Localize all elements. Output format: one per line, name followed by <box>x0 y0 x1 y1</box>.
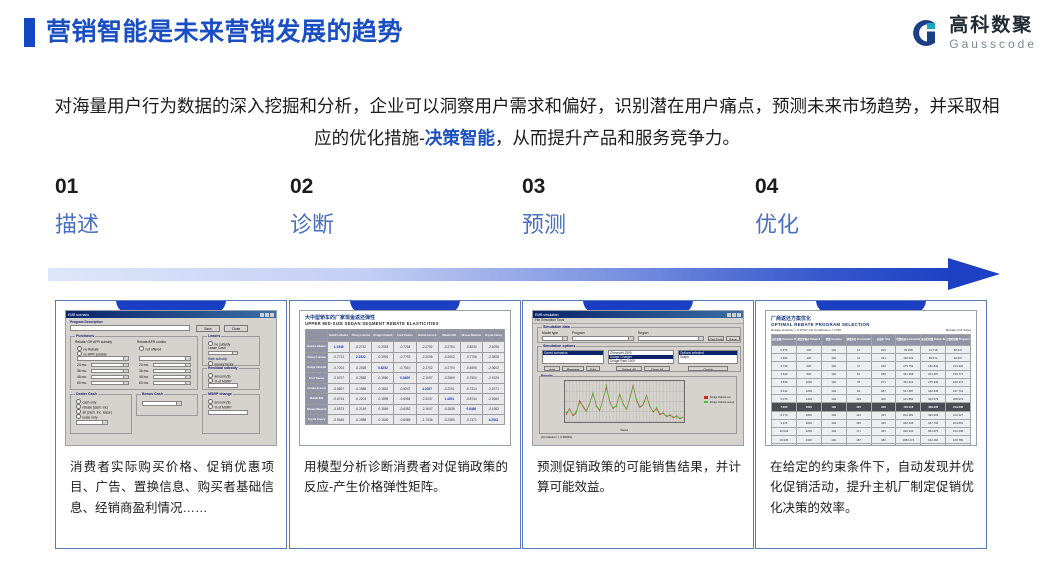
rebate-cell: 722.116 <box>896 403 921 411</box>
matrix-row-header: Chevy Lumina <box>306 352 328 362</box>
rebate-cell: 204.861 <box>946 419 971 427</box>
title-text: 营销智能是未来营销发展的趋势 <box>46 20 403 45</box>
msrp-change-input[interactable] <box>208 410 248 415</box>
card-optimize[interactable]: 厂商返还方案优化 OPTIMAL REBATE PROGRAM SELECTIO… <box>755 300 987 549</box>
rebate-cell: 318 <box>871 403 896 411</box>
rebate-cell: 190 <box>821 370 846 378</box>
rebate-cell: 1200 <box>796 386 821 394</box>
rebate-cell: 10.026 <box>772 427 797 435</box>
rebate-cell: 1600 <box>796 403 821 411</box>
correlation-text: (Correlation = 0.96066) <box>541 435 572 439</box>
table-row: 7.2951600190125318722.116459.235213.348 <box>772 403 971 411</box>
label-region: Region <box>638 331 648 335</box>
bonus-cash-input[interactable] <box>142 401 182 406</box>
rebate-cell: 7.295 <box>772 403 797 411</box>
paragraph-highlight: 决策智能 <box>425 128 495 148</box>
rebate-cell: 992.910 <box>896 427 921 435</box>
matrix-cell: 1.4291 <box>438 394 460 404</box>
rebate-cell: 1000 <box>796 378 821 386</box>
rebate-cell: 124.902 <box>946 362 971 370</box>
rebate-cell: 95.268 <box>896 346 921 354</box>
rebate-cell: 78 <box>846 378 871 386</box>
rebate-cell: 10.935 <box>772 436 797 444</box>
dealer-cash-select[interactable] <box>76 420 108 425</box>
rebate-cell: 9.115 <box>772 419 797 427</box>
rebate-cell: 68.447 <box>946 346 971 354</box>
matrix-row-header: Dodge Intrepid <box>306 363 328 373</box>
list-item[interactable]: Graph <box>679 355 737 359</box>
rebate-cell: 190 <box>821 444 846 446</box>
matrix-cell: -0.2291 <box>438 383 460 393</box>
radio-lease-only[interactable]: lease only <box>76 414 97 420</box>
table-row: Nissan Maxima-0.6573-0.2149-0.1869-0.635… <box>306 404 505 414</box>
matrix-col-header: Buick LeSabre <box>328 330 350 342</box>
rebate-cell: 190 <box>821 436 846 444</box>
rebate-cell: 333 <box>871 411 896 419</box>
rebate-cell: 258 <box>871 370 896 378</box>
term-label-36b: 36 mo. <box>139 369 149 373</box>
matrix-cell: -0.6573 <box>328 404 350 414</box>
rebate-cell: 47 <box>846 362 871 370</box>
term-label-24b: 24 mo. <box>139 363 149 367</box>
models-list[interactable]: Chevrolet 1500 Dodge Charger Dodge Ram 1… <box>608 350 674 364</box>
rebate-cell: 212.427 <box>946 411 971 419</box>
table-row: 5.444120019094287541.587340.846197.741 <box>772 386 971 394</box>
step-label: 诊断 <box>290 214 520 236</box>
rebate-cell: 380 <box>871 436 896 444</box>
group-residual-subsidy: Residual subsidy amount ($) % of MSRP <box>202 368 260 390</box>
matrix-table: Buick LeSabreChevy LuminaDodge IntrepidF… <box>305 329 505 425</box>
matrix-col-header: Toyota Camry <box>482 330 504 342</box>
term-label-48: 48 mo. <box>77 375 87 379</box>
rebate-cell: 156.771 <box>946 370 971 378</box>
matrix-cell: -0.7510 <box>394 363 416 373</box>
term-rate-60[interactable] <box>153 381 191 386</box>
matrix-row-header: Honda Accord <box>306 383 328 393</box>
rebate-cell: 499.906 <box>921 411 946 419</box>
rebate-cell: 287 <box>871 386 896 394</box>
matrix-cell: -0.1991 <box>372 352 394 362</box>
paragraph-part-2: ，从而提升产品和服务竞争力。 <box>495 128 740 148</box>
rebate-cell: 902.645 <box>896 419 921 427</box>
rebate-cell: 459.235 <box>921 403 946 411</box>
saved-scenarios-list[interactable]: Saved scenarios <box>542 350 604 364</box>
rebate-cell: 340.846 <box>921 386 946 394</box>
table-row: 0.9762001901420995.26841.71868.447 <box>772 346 971 354</box>
group-label-msrp: MSRP change <box>207 392 233 396</box>
rebate-cell: 31 <box>846 354 871 362</box>
group-bonus-cash: Bonus Cash <box>136 394 198 416</box>
residual-value-input[interactable] <box>208 383 238 388</box>
rebate-title-en: OPTIMAL REBATE PROGRAM SELECTION <box>771 322 971 327</box>
rebate-cell: 8.179 <box>772 411 797 419</box>
table-row: 8.1791800190140333812.381499.906212.427 <box>772 411 971 419</box>
matrix-row-header: Ford Taurus <box>306 373 328 383</box>
group-leases: Leases no subsidy Lease Cash Rate subsid… <box>202 336 260 366</box>
rebate-cell: 190 <box>821 386 846 394</box>
matrix-cell: -0.6589 <box>394 414 416 424</box>
matrix-cell: -2.0808 <box>482 352 504 362</box>
title-accent-bar <box>24 18 35 47</box>
clear-all-button[interactable]: Clear All <box>644 366 670 371</box>
group-dealer-cash: Dealer Cash cash only rebate (cash. Inc)… <box>70 394 132 434</box>
table-row: 1.92640019031224182.32989.67292.607 <box>772 354 971 362</box>
matrix-cell: -2.1660 <box>482 394 504 404</box>
rebate-cell: 171 <box>846 427 871 435</box>
rebate-cell: 1800 <box>796 411 821 419</box>
rebate-cell: 203 <box>846 444 871 446</box>
matrix-cell: -0.2669 <box>438 373 460 383</box>
rebate-cell: 190 <box>821 346 846 354</box>
group-label-bonus-cash: Bonus Cash <box>141 392 164 396</box>
matrix-cell: -0.6954 <box>394 394 416 404</box>
matrix-cell: -0.2742 <box>350 342 372 352</box>
brand-logo: 高科数聚 Gausscode <box>908 16 1037 50</box>
term-rate-36[interactable] <box>153 369 191 374</box>
matrix-col-header: Nissan Maxima <box>460 330 482 342</box>
select-all-button[interactable]: Select All <box>616 366 642 371</box>
table-header-row: Buick LeSabreChevy LuminaDodge IntrepidF… <box>306 330 505 342</box>
rebate-cell: 169.780 <box>946 436 971 444</box>
simulation-chart: Dodge Dakota est Dodge Dakota actual Wee… <box>539 376 737 434</box>
step-item-1: 01 描述 <box>55 176 285 236</box>
rebate-cell: 271 <box>871 378 896 386</box>
purchase-select-2[interactable] <box>139 356 191 361</box>
term-label-48b: 48 mo. <box>139 375 149 379</box>
table-row: 2.73960019047240275.754140.842124.902 <box>772 362 971 370</box>
rebate-cell: 4.539 <box>772 378 797 386</box>
matrix-row-header: Buick LeSabre <box>306 342 328 352</box>
progress-arrow-head <box>948 258 1000 290</box>
rebate-cell: 204.287 <box>921 370 946 378</box>
label-model-type: Model type <box>542 331 558 335</box>
rebate-title-cn: 厂商返还方案优化 <box>771 315 971 322</box>
rebate-cell: 224 <box>871 354 896 362</box>
rebate-col-header: 建议零售价 Rebate $ <box>796 335 821 346</box>
rebate-col-header: 返还金额 Customer Price <box>772 335 797 346</box>
matrix-cell: -0.1869 <box>372 404 394 414</box>
rebate-cell: 190 <box>821 378 846 386</box>
matrix-cell: -0.6352 <box>394 404 416 414</box>
matrix-cell: -2.1697 <box>416 373 438 383</box>
rebate-col-header: 方案利润额 Program Profits <box>946 335 971 346</box>
rebate-cell: 1028.703 <box>921 444 946 446</box>
matrix-row-header: Toyota Camry <box>306 414 328 424</box>
term-label-24: 24 mo. <box>77 363 87 367</box>
rebate-cell: 276.949 <box>921 378 946 386</box>
term-label-36: 36 mo. <box>77 369 87 373</box>
term-value-48[interactable] <box>91 375 129 380</box>
rebate-cell: 190 <box>821 419 846 427</box>
matrix-cell: -2.2752 <box>416 342 438 352</box>
table-row: Buick LeSabre1.1548-0.2742-0.2018-0.7254… <box>306 342 505 352</box>
card-predict[interactable]: EMB simulation File Simulation Tools Sim… <box>522 300 754 549</box>
matrix-cell: -0.8490 <box>460 363 482 373</box>
screenshot-simulation-window: EMB simulation File Simulation Tools Sim… <box>532 310 744 446</box>
matrix-cell: -0.1895 <box>372 394 394 404</box>
options-selected-list[interactable]: Options selected Graph <box>678 350 738 364</box>
rebate-cell: 190 <box>821 411 846 419</box>
matrix-cell: -2.1096 <box>482 342 504 352</box>
term-value-60[interactable] <box>91 381 129 386</box>
rebate-cell: 208.973 <box>946 395 971 403</box>
step-headings: 01 描述 02 诊断 03 预测 04 优化 <box>0 176 1051 251</box>
rebate-cell: 140.842 <box>921 362 946 370</box>
rebate-cell: 140.728 <box>946 444 971 446</box>
table-header-row: 返还金额 Customer Price建议零售价 Rebate $销量 Ince… <box>772 335 971 346</box>
rebate-cell: 200 <box>796 346 821 354</box>
matrix-cell: -2.0602 <box>482 363 504 373</box>
program-select[interactable] <box>572 336 634 341</box>
rebate-cell: 863.875 <box>921 427 946 435</box>
save-button[interactable]: Save <box>196 325 220 332</box>
rebate-cell: 190 <box>821 403 846 411</box>
rebate-cell: 395 <box>871 444 896 446</box>
rebate-cell: 89.672 <box>921 354 946 362</box>
matrix-cell: -0.2028 <box>350 363 372 373</box>
progress-arrow-body <box>48 268 958 281</box>
intro-paragraph: 对海量用户行为数据的深入挖掘和分析，企业可以洞察用户需求和偏好，识别潜在用户痛点… <box>48 90 1006 155</box>
step-label: 预测 <box>522 214 752 236</box>
rebate-subtitle-left: Rebate elasticity = 0.8752 Unit Contribu… <box>771 328 841 332</box>
table-row: Mazda 626-0.6744-0.2203-0.1895-0.6954-2.… <box>306 394 505 404</box>
matrix-cell: -0.1640 <box>372 414 394 424</box>
rebate-cell: 1173.439 <box>896 444 921 446</box>
rebate-cell: 364 <box>871 427 896 435</box>
rebate-cell: 2400 <box>796 436 821 444</box>
matrix-cell: -2.2006 <box>416 352 438 362</box>
window-buttons[interactable] <box>727 313 741 317</box>
chart-svg <box>565 381 685 422</box>
matrix-cell: -0.2588 <box>350 373 372 383</box>
rebate-cell: 190 <box>821 362 846 370</box>
close-button[interactable]: Close <box>224 325 248 332</box>
group-label-sim-data: Simulation data <box>542 325 571 329</box>
matrix-cell: -0.7713 <box>328 352 350 362</box>
table-row: 3.64380019062258361.058204.287156.771 <box>772 370 971 378</box>
list-item[interactable]: Saved scenarios <box>543 351 603 355</box>
matrix-cell: 4.2541 <box>482 414 504 424</box>
rebate-cell: 302 <box>871 395 896 403</box>
term-rate-48[interactable] <box>153 375 191 380</box>
rebate-cell: 240 <box>871 362 896 370</box>
rebate-cell: 3.643 <box>772 370 797 378</box>
card-caption: 预测促销政策的可能销售结果，并计算可能效益。 <box>537 457 741 498</box>
matrix-cell: -0.2838 <box>438 404 460 414</box>
region-select[interactable] <box>638 336 704 341</box>
chart-plot-area <box>564 380 686 423</box>
table-row: Honda Accord-0.5807-0.1986-0.1642-0.5247… <box>306 383 505 393</box>
matrix-cell: -0.7371 <box>460 414 482 424</box>
table-row: 11.84526001902033951173.4391028.703140.7… <box>772 444 971 446</box>
matrix-cell: 4.2257 <box>416 383 438 393</box>
term-value-36[interactable] <box>91 369 129 374</box>
matrix-cell: -0.1988 <box>350 414 372 424</box>
table-row: Dodge Intrepid-0.7204-0.20280.8252-0.751… <box>306 363 505 373</box>
matrix-cell: -0.7204 <box>328 363 350 373</box>
step-number: 03 <box>522 176 752 197</box>
rebate-cell: 140 <box>846 411 871 419</box>
rebate-cell: 156 <box>846 419 871 427</box>
rebate-cell: 191.038 <box>946 427 971 435</box>
rebate-col-header: 增量收益 Incremental Dealer Revenue <box>896 335 921 346</box>
window-buttons[interactable] <box>260 313 274 317</box>
matrix-row-header: Nissan Maxima <box>306 404 328 414</box>
step-number: 02 <box>290 176 520 197</box>
term-rate-24[interactable] <box>153 363 191 368</box>
rebate-cell: 451.323 <box>896 378 921 386</box>
matrix-col-header: Dodge Intrepid <box>372 330 394 342</box>
card-caption: 在给定的约束条件下，自动发现并优化促销活动，提升主机厂制定促销优化决策的效率。 <box>770 457 974 518</box>
matrix-col-header: Ford Taurus <box>394 330 416 342</box>
matrix-cell: -0.7756 <box>460 352 482 362</box>
table-row: Chevy Lumina-0.77132.2522-0.1991-0.7793-… <box>306 352 505 362</box>
rebate-cell: 94 <box>846 386 871 394</box>
matrix-col-header: Chevy Lumina <box>350 330 372 342</box>
rebate-cell: 812.381 <box>896 411 921 419</box>
matrix-cell: 2.2522 <box>350 352 372 362</box>
group-simulation-options: Simulation options Saved scenarios Chevr… <box>537 346 741 372</box>
rebate-cell: 213.348 <box>946 403 971 411</box>
matrix-cell: -0.7500 <box>460 373 482 383</box>
label-lease-cash: Lease Cash <box>208 346 226 350</box>
matrix-cell: -0.5807 <box>328 383 350 393</box>
rebate-subtitle-right: Rebate Unit Sales <box>946 328 971 332</box>
rebate-cell: 403.579 <box>921 395 946 403</box>
table-row: 10.0262200190171364992.910863.875191.038 <box>772 427 971 435</box>
remove-button[interactable]: Remove <box>562 366 584 371</box>
window-title: EMB simulation <box>535 313 559 317</box>
rebate-cell: 190 <box>821 395 846 403</box>
matrix-body: Buick LeSabre1.1548-0.2742-0.2018-0.7254… <box>306 342 505 425</box>
save-button[interactable]: Save <box>726 336 740 342</box>
rebate-cell: 6.075 <box>772 395 797 403</box>
matrix-cell: -0.8240 <box>460 342 482 352</box>
logo-text-cn: 高科数聚 <box>949 16 1037 35</box>
rebate-cell: 5.444 <box>772 386 797 394</box>
rebate-cell: 14 <box>846 346 871 354</box>
rebate-cell: 92.607 <box>946 354 971 362</box>
rebate-cell: 11.845 <box>772 444 797 446</box>
group-label-program-description: Program Description <box>70 320 103 324</box>
rebate-cell: 361.058 <box>896 370 921 378</box>
card-caption: 消费者实际购买价格、促销优惠项目、广告、置换信息、购买者基础信息、经销商盈利情况… <box>70 457 274 518</box>
rebate-cell: 275.754 <box>896 362 921 370</box>
step-item-3: 03 预测 <box>522 176 752 236</box>
term-label-60b: 60 mo. <box>139 381 149 385</box>
rebate-cell: 1400 <box>796 395 821 403</box>
screenshot-rebate-table: 厂商返还方案优化 OPTIMAL REBATE PROGRAM SELECTIO… <box>765 310 977 446</box>
rebate-body: 0.9762001901420995.26841.71868.4471.9264… <box>772 346 971 447</box>
matrix-cell: -1.7436 <box>416 414 438 424</box>
purchase-select-1[interactable] <box>77 356 129 361</box>
group-label-residual: Residual subsidy <box>207 366 239 370</box>
matrix-cell: -2.1702 <box>416 363 438 373</box>
radio-msrp-pct[interactable]: % of MSRP <box>208 404 232 410</box>
matrix-cell: -0.2018 <box>372 342 394 352</box>
rebate-cell: 2600 <box>796 444 821 446</box>
window-title: EMB scenario <box>68 313 89 317</box>
matrix-cell: -0.2380 <box>438 414 460 424</box>
label-program: Program <box>572 331 585 335</box>
term-value-24[interactable] <box>91 363 129 368</box>
graph-button[interactable]: Graph <box>688 366 728 371</box>
card-row: EMB scenario Program Description Save Cl… <box>0 300 1051 552</box>
rebate-cell: 400 <box>796 354 821 362</box>
rebate-cell: 41.718 <box>921 346 946 354</box>
edit-button[interactable]: Edit <box>586 366 600 371</box>
step-label: 描述 <box>55 214 285 236</box>
rebate-col-header: 返还后销量 Rebate Sales <box>921 335 946 346</box>
group-msrp-change: MSRP change amount ($) % of MSRP <box>202 394 260 434</box>
table-row: Ford Taurus-0.6707-0.2588-0.19600.9480-2… <box>306 373 505 383</box>
table-row: 9.1152000190156349902.645647.790204.861 <box>772 419 971 427</box>
card-describe[interactable]: EMB scenario Program Description Save Cl… <box>55 300 287 549</box>
matrix-cell: -2.1982 <box>482 404 504 414</box>
legend-label: Dodge Dakota actual <box>710 401 734 404</box>
rebate-cell: 1.926 <box>772 354 797 362</box>
rebate-cell: 209 <box>871 346 896 354</box>
rebate-cell: 109 <box>846 395 871 403</box>
matrix-cell: -0.6744 <box>328 394 350 404</box>
step-item-2: 02 诊断 <box>290 176 520 236</box>
screenshot-scenario-dialog: EMB scenario Program Description Save Cl… <box>65 310 277 446</box>
model-type-select[interactable] <box>542 336 568 341</box>
rebate-table: 返还金额 Customer Price建议零售价 Rebate $销量 Ince… <box>771 334 971 446</box>
page-title: 营销智能是未来营销发展的趋势 <box>24 18 403 47</box>
program-description-input[interactable] <box>70 325 190 331</box>
group-label-purchases: Purchases <box>75 334 95 338</box>
rebate-cell: 182.329 <box>896 354 921 362</box>
logo-text-en: Gausscode <box>949 38 1037 50</box>
matrix-cell: -0.5645 <box>328 414 350 424</box>
matrix-cell: -0.7793 <box>394 352 416 362</box>
matrix-cell: 0.8252 <box>372 363 394 373</box>
step-number: 04 <box>755 176 985 197</box>
rebate-cell: 62 <box>846 370 871 378</box>
matrix-col-header: Mazda 626 <box>438 330 460 342</box>
matrix-cell: -0.1986 <box>350 383 372 393</box>
card-diagnose[interactable]: 大中型轿车的厂家现金返还弹性 UPPER MID-SIZE SEDAN SEGM… <box>289 300 521 549</box>
group-label-sim-options: Simulation options <box>542 344 576 348</box>
matrix-col-header: Honda Accord <box>416 330 438 342</box>
matrix-cell: -0.5247 <box>394 383 416 393</box>
get-data-button[interactable]: Get Data <box>708 336 724 342</box>
progress-arrow <box>48 262 1008 290</box>
term-label-60: 60 mo. <box>77 381 87 385</box>
legend-label: Dodge Dakota est <box>710 396 731 399</box>
matrix-row-header: Mazda 626 <box>306 394 328 404</box>
matrix-cell: -0.8744 <box>460 394 482 404</box>
rebate-panel: 厂商返还方案优化 OPTIMAL REBATE PROGRAM SELECTIO… <box>766 311 976 445</box>
rebate-cell: 631.852 <box>896 395 921 403</box>
matrix-cell: -0.7314 <box>460 383 482 393</box>
matrix-cell: 1.1548 <box>328 342 350 352</box>
matrix-title-en: UPPER MID-SIZE SEDAN SEGMENT REBATE ELAS… <box>305 321 505 326</box>
rebate-cell: 2200 <box>796 427 821 435</box>
step-label: 优化 <box>755 214 985 236</box>
matrix-cell: -2.2037 <box>416 394 438 404</box>
rebate-cell: 349 <box>871 419 896 427</box>
rebate-cell: 800 <box>796 370 821 378</box>
rebate-cell: 190 <box>821 354 846 362</box>
rebate-cell: 125 <box>846 403 871 411</box>
add-button[interactable]: Add <box>544 366 560 371</box>
rebate-cell: 187 <box>846 436 871 444</box>
rebate-cell: 0.976 <box>772 346 797 354</box>
radio-not-offered[interactable]: not offered <box>139 346 161 352</box>
lease-cash-input[interactable] <box>208 351 238 356</box>
